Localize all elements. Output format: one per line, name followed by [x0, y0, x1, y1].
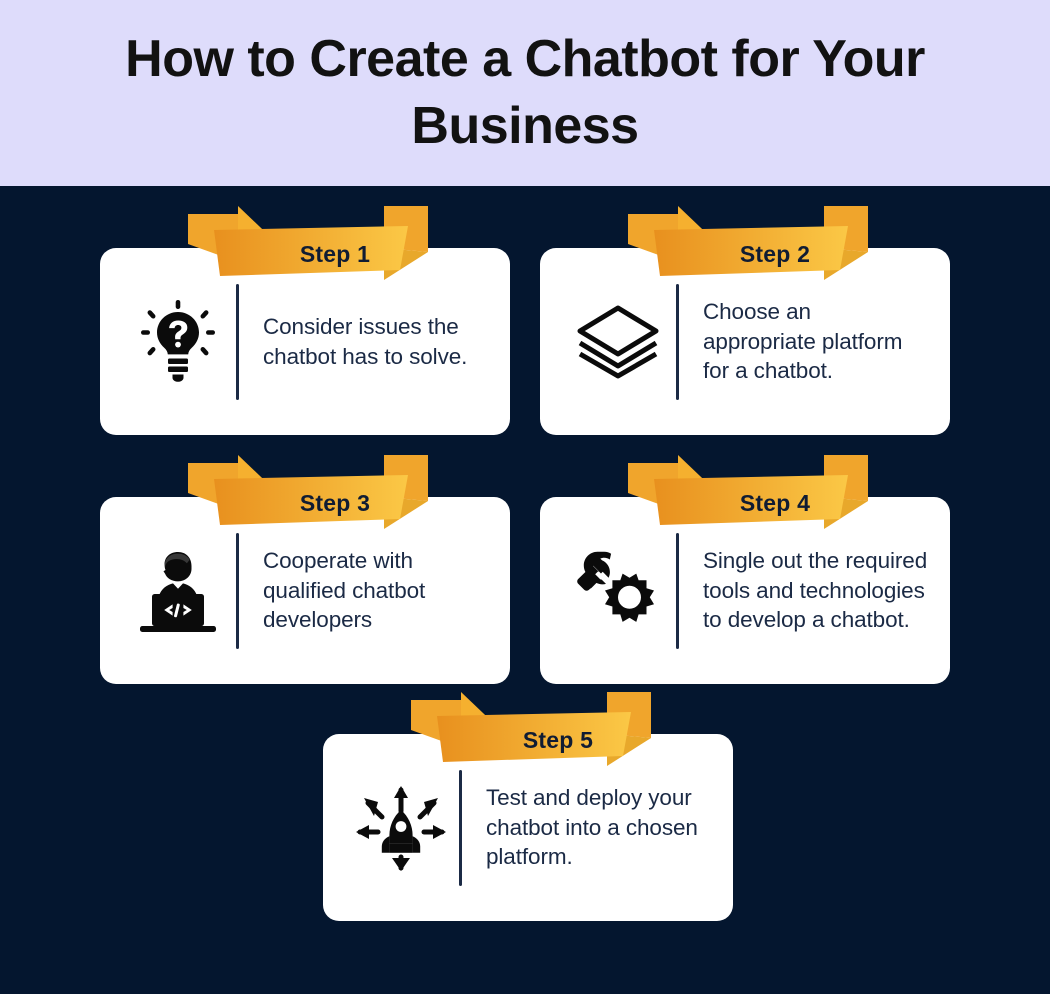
- step-card-1-content: Consider issues the chatbot has to solve…: [100, 284, 510, 400]
- step-card-2-divider: [676, 284, 679, 400]
- layers-stack-icon: [566, 294, 670, 390]
- step-card-4-content: Single out the required tools and techno…: [540, 533, 950, 649]
- step-card-2: Choose an appropriate platform for a cha…: [540, 248, 950, 435]
- developer-laptop-code-icon: [126, 543, 230, 639]
- step-card-4-divider: [676, 533, 679, 649]
- step-card-1-divider: [236, 284, 239, 400]
- infographic-header: How to Create a Chatbot for Your Busines…: [0, 0, 1050, 186]
- step-card-3-content: Cooperate with qualified chatbot develop…: [100, 533, 510, 649]
- step-card-5: Test and deploy your chatbot into a chos…: [323, 734, 733, 921]
- steps-board: Consider issues the chatbot has to solve…: [0, 186, 1050, 994]
- step-card-4-text: Single out the required tools and techno…: [703, 546, 928, 636]
- step-card-1-text: Consider issues the chatbot has to solve…: [263, 312, 488, 372]
- step-card-5-divider: [459, 770, 462, 886]
- step-card-2-content: Choose an appropriate platform for a cha…: [540, 284, 950, 400]
- rocket-deploy-arrows-icon: [349, 780, 453, 876]
- step-card-3-text: Cooperate with qualified chatbot develop…: [263, 546, 488, 636]
- page-title: How to Create a Chatbot for Your Busines…: [90, 26, 960, 159]
- step-card-5-content: Test and deploy your chatbot into a chos…: [323, 770, 733, 886]
- lightbulb-question-icon: [126, 294, 230, 390]
- step-card-3-divider: [236, 533, 239, 649]
- step-card-1: Consider issues the chatbot has to solve…: [100, 248, 510, 435]
- step-card-3: Cooperate with qualified chatbot develop…: [100, 497, 510, 684]
- gear-wrench-tools-icon: [566, 543, 670, 639]
- step-card-4: Single out the required tools and techno…: [540, 497, 950, 684]
- step-card-5-text: Test and deploy your chatbot into a chos…: [486, 783, 711, 873]
- step-card-2-text: Choose an appropriate platform for a cha…: [703, 297, 928, 387]
